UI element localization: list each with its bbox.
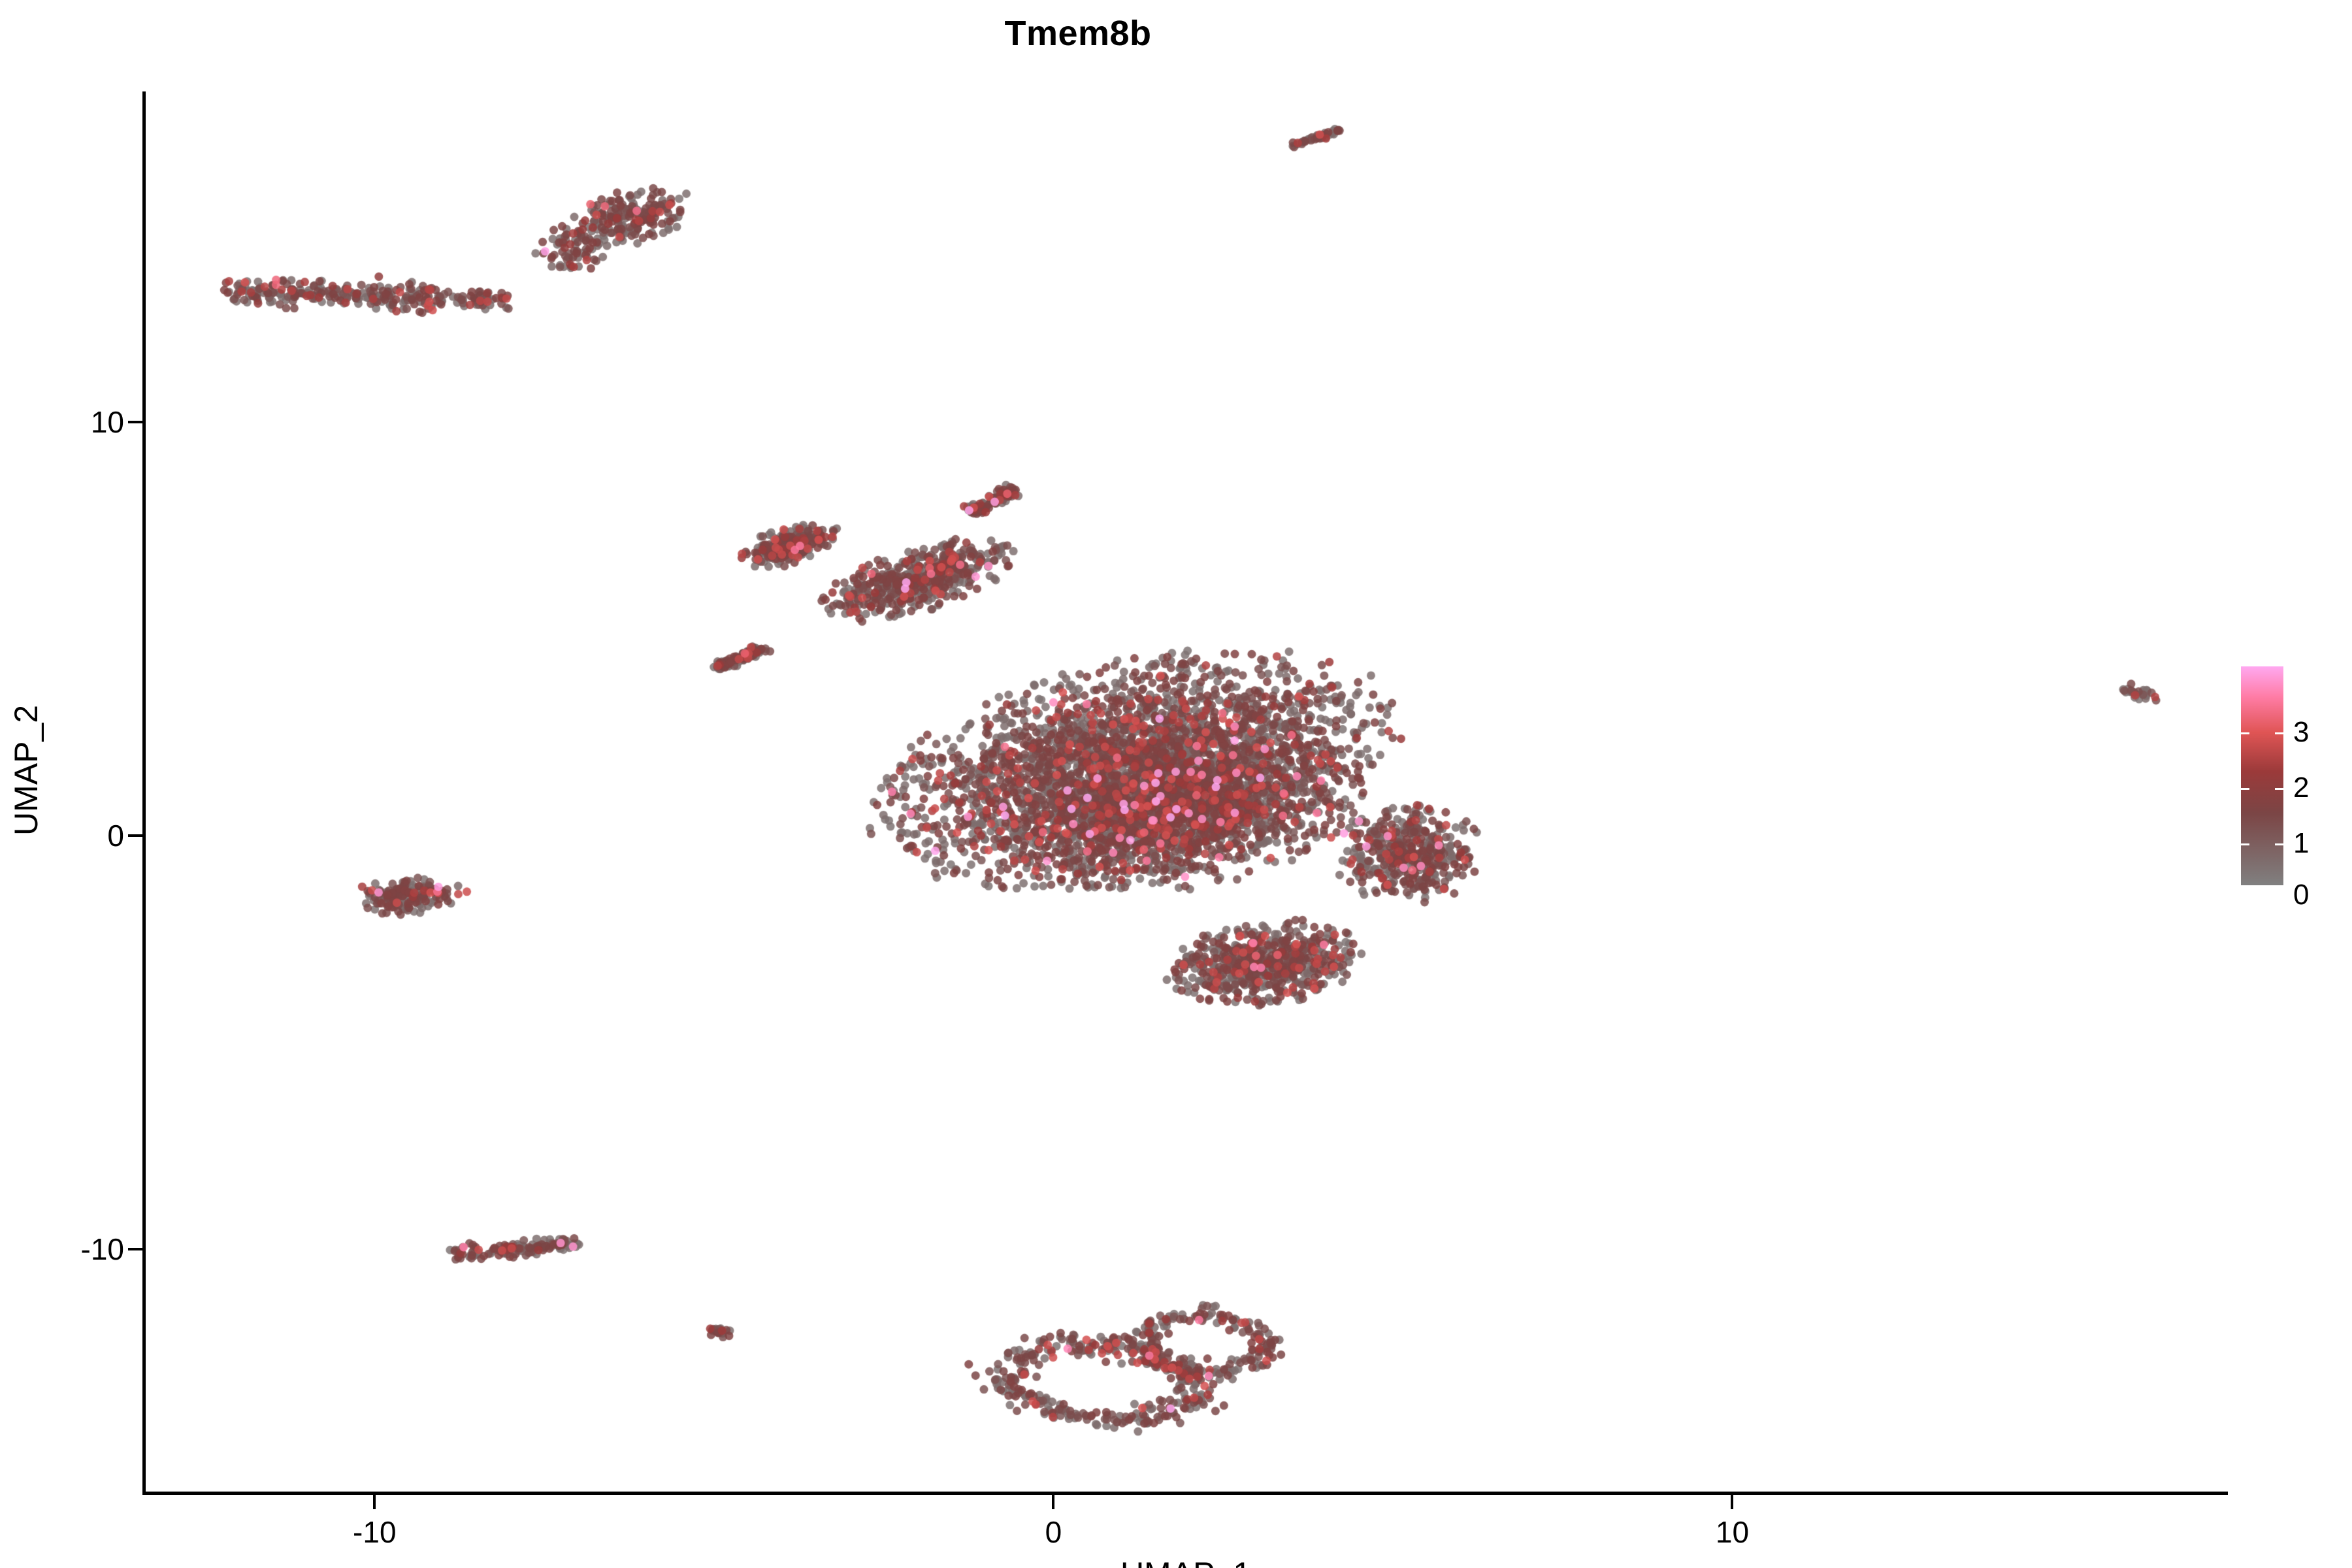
y-axis-title: UMAP_2 bbox=[7, 509, 45, 1032]
x-tick-label: -10 bbox=[353, 1514, 396, 1550]
colorbar-tick-label: 2 bbox=[2293, 772, 2309, 804]
scatter-plot-canvas bbox=[144, 91, 2228, 1493]
y-tick-label: 10 bbox=[91, 404, 124, 440]
colorbar-gradient bbox=[2241, 666, 2283, 885]
x-axis-title: UMAP_1 bbox=[144, 1555, 2228, 1568]
page-title: Tmem8b bbox=[0, 13, 2156, 54]
colorbar-tick-mark bbox=[2241, 788, 2249, 790]
x-tick-mark bbox=[373, 1495, 376, 1509]
colorbar-tick-label: 3 bbox=[2293, 716, 2309, 749]
colorbar-legend: 3210 bbox=[2241, 666, 2339, 902]
x-tick-label: 0 bbox=[1045, 1514, 1062, 1550]
x-tick-mark bbox=[1731, 1495, 1733, 1509]
colorbar-tick-mark bbox=[2241, 732, 2249, 734]
x-tick-mark bbox=[1052, 1495, 1054, 1509]
y-tick-label: -10 bbox=[81, 1232, 124, 1267]
y-axis-line bbox=[142, 91, 146, 1495]
y-tick-mark bbox=[128, 834, 142, 837]
x-axis-line bbox=[142, 1492, 2228, 1495]
x-tick-label: 10 bbox=[1716, 1514, 1749, 1550]
colorbar-tick-mark bbox=[2275, 732, 2283, 734]
y-tick-mark bbox=[128, 421, 142, 423]
colorbar-tick-label: 1 bbox=[2293, 827, 2309, 860]
plot-panel bbox=[144, 91, 2228, 1493]
colorbar-tick-label: 0 bbox=[2293, 879, 2309, 911]
colorbar-tick-mark bbox=[2241, 843, 2249, 845]
colorbar-tick-mark bbox=[2275, 843, 2283, 845]
y-tick-label: 0 bbox=[107, 818, 124, 853]
umap-feature-plot: Tmem8b -10010-10010 UMAP_1 UMAP_2 3210 bbox=[0, 0, 2352, 1568]
colorbar-tick-mark bbox=[2275, 788, 2283, 790]
y-tick-mark bbox=[128, 1248, 142, 1250]
